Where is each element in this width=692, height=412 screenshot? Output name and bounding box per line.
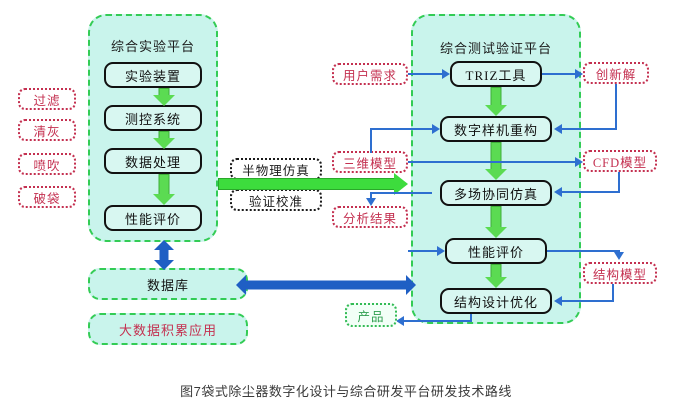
- left-input-filter[interactable]: 过滤: [18, 88, 76, 110]
- conn-multifield-to-analysis: [370, 192, 432, 194]
- conn-innovation-down: [615, 84, 617, 129]
- right-platform-title: 综合测试验证平台: [411, 38, 581, 57]
- conn-3dmodel-to-digital: [370, 128, 432, 130]
- conn-perf-to-structmodel-head: [614, 252, 624, 260]
- right-flow-arrow-3: [485, 206, 507, 238]
- right-step-1[interactable]: TRIZ工具: [450, 61, 542, 87]
- conn-cfd-down: [618, 172, 620, 192]
- conn-triz-to-innovation-head: [575, 69, 583, 79]
- right-output-structure-model[interactable]: 结构模型: [583, 262, 657, 284]
- left-step-2[interactable]: 测控系统: [104, 105, 202, 131]
- left-step-4[interactable]: 性能评价: [104, 205, 202, 231]
- conn-3dmodel-up: [370, 129, 372, 153]
- conn-analysis-to-perf: [408, 250, 437, 252]
- conn-user-to-triz-head: [442, 69, 450, 79]
- database-box[interactable]: 数据库: [88, 268, 248, 300]
- conn-3dmodel-to-cfd: [408, 161, 575, 163]
- conn-structmodel-to-opt: [562, 300, 614, 302]
- platform-database-arrow: [153, 240, 175, 270]
- conn-analysis-head: [366, 198, 376, 206]
- left-flow-arrow-2: [153, 131, 175, 148]
- left-flow-arrow-3: [153, 174, 175, 205]
- product-box[interactable]: 产品: [345, 303, 397, 327]
- left-flow-arrow-1: [153, 88, 175, 105]
- database-platform-arrow: [236, 274, 416, 296]
- conn-opt-down: [470, 314, 472, 322]
- figure-root: 综合实验平台 实验装置 测控系统 数据处理 性能评价 过滤 清灰 喷吹 破袋 半…: [0, 0, 692, 412]
- mid-label-3d-model[interactable]: 三维模型: [332, 151, 408, 173]
- right-flow-arrow-4: [485, 264, 507, 288]
- right-output-cfd-model[interactable]: CFD模型: [583, 150, 657, 172]
- conn-user-to-triz: [408, 73, 442, 75]
- conn-3dmodel-to-digital-head: [432, 124, 440, 134]
- mid-label-user-requirement[interactable]: 用户需求: [332, 63, 408, 85]
- left-input-blowing[interactable]: 喷吹: [18, 153, 76, 175]
- conn-structmodel-to-opt-head: [554, 296, 562, 306]
- conn-innovation-to-digital-head: [554, 124, 562, 134]
- right-step-3[interactable]: 多场协同仿真: [440, 180, 552, 206]
- left-input-bagbreak[interactable]: 破袋: [18, 186, 76, 208]
- conn-3dmodel-to-cfd-head: [575, 157, 583, 167]
- conn-triz-to-innovation: [542, 73, 575, 75]
- conn-cfd-to-multifield: [562, 191, 620, 193]
- bigdata-box[interactable]: 大数据积累应用: [88, 313, 248, 345]
- right-step-2[interactable]: 数字样机重构: [440, 116, 552, 142]
- conn-perf-to-structmodel: [547, 250, 620, 252]
- right-step-4[interactable]: 性能评价: [445, 238, 547, 264]
- conn-innovation-to-digital: [562, 128, 617, 130]
- conn-opt-to-product: [402, 320, 470, 322]
- left-step-1[interactable]: 实验装置: [104, 62, 202, 88]
- right-flow-arrow-1: [485, 87, 507, 116]
- left-input-cleaning[interactable]: 清灰: [18, 119, 76, 141]
- left-platform-title: 综合实验平台: [88, 36, 218, 55]
- left-step-3[interactable]: 数据处理: [104, 148, 202, 174]
- figure-caption: 图7袋式除尘器数字化设计与综合研发平台研发技术路线: [0, 381, 692, 400]
- conn-cfd-to-multifield-head: [554, 187, 562, 197]
- conn-opt-to-product-head: [396, 316, 404, 326]
- mid-label-analysis-result[interactable]: 分析结果: [332, 206, 408, 228]
- conn-analysis-to-perf-head: [437, 246, 445, 256]
- right-step-5[interactable]: 结构设计优化: [440, 288, 552, 314]
- conn-structmodel-down: [612, 284, 614, 301]
- right-output-innovation[interactable]: 创新解: [583, 62, 649, 84]
